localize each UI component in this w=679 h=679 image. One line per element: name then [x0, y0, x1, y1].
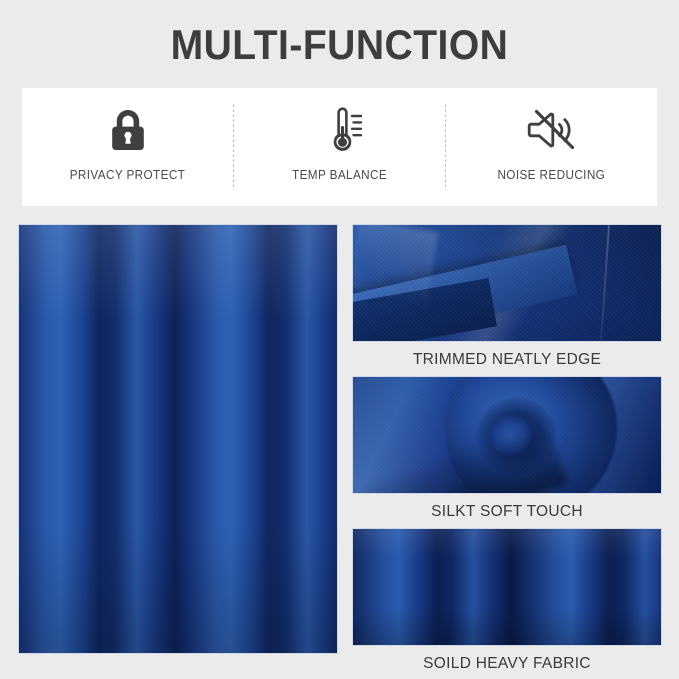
silk-weave-texture — [353, 377, 661, 493]
panel-caption: SILKT SOFT TOUCH — [352, 494, 662, 528]
solid-fabric-image — [352, 528, 662, 646]
curtain-pleats — [19, 225, 337, 653]
fabric-weave-texture — [353, 225, 661, 341]
detail-panel-column: TRIMMED NEATLY EDGE SILKT SOFT TOUCH SOI… — [352, 224, 662, 679]
feature-label: PRIVACY PROTECT — [70, 168, 186, 182]
muted-speaker-icon — [525, 102, 579, 158]
detail-panel-trimmed-edge: TRIMMED NEATLY EDGE — [352, 224, 662, 376]
feature-temp-balance: TEMP BALANCE — [234, 88, 445, 206]
lock-icon — [106, 102, 150, 158]
detail-panel-solid-fabric: SOILD HEAVY FABRIC — [352, 528, 662, 679]
thermometer-icon — [315, 102, 365, 158]
solid-fabric-pleats — [353, 529, 661, 645]
panel-caption: SOILD HEAVY FABRIC — [352, 646, 662, 679]
hero-curtain-image — [18, 224, 338, 654]
trimmed-edge-image — [352, 224, 662, 342]
detail-panel-silk-touch: SILKT SOFT TOUCH — [352, 376, 662, 528]
silk-touch-image — [352, 376, 662, 494]
page-title: MULTI-FUNCTION — [24, 24, 655, 66]
feature-label: NOISE REDUCING — [498, 168, 606, 182]
feature-noise-reducing: NOISE REDUCING — [446, 88, 657, 206]
feature-card: PRIVACY PROTECT — [22, 88, 657, 206]
feature-privacy-protect: PRIVACY PROTECT — [22, 88, 233, 206]
panel-caption: TRIMMED NEATLY EDGE — [352, 342, 662, 376]
title-container: MULTI-FUNCTION — [0, 24, 679, 66]
product-infographic: MULTI-FUNCTION PRIVACY PROTECT — [0, 0, 679, 679]
feature-label: TEMP BALANCE — [292, 168, 387, 182]
